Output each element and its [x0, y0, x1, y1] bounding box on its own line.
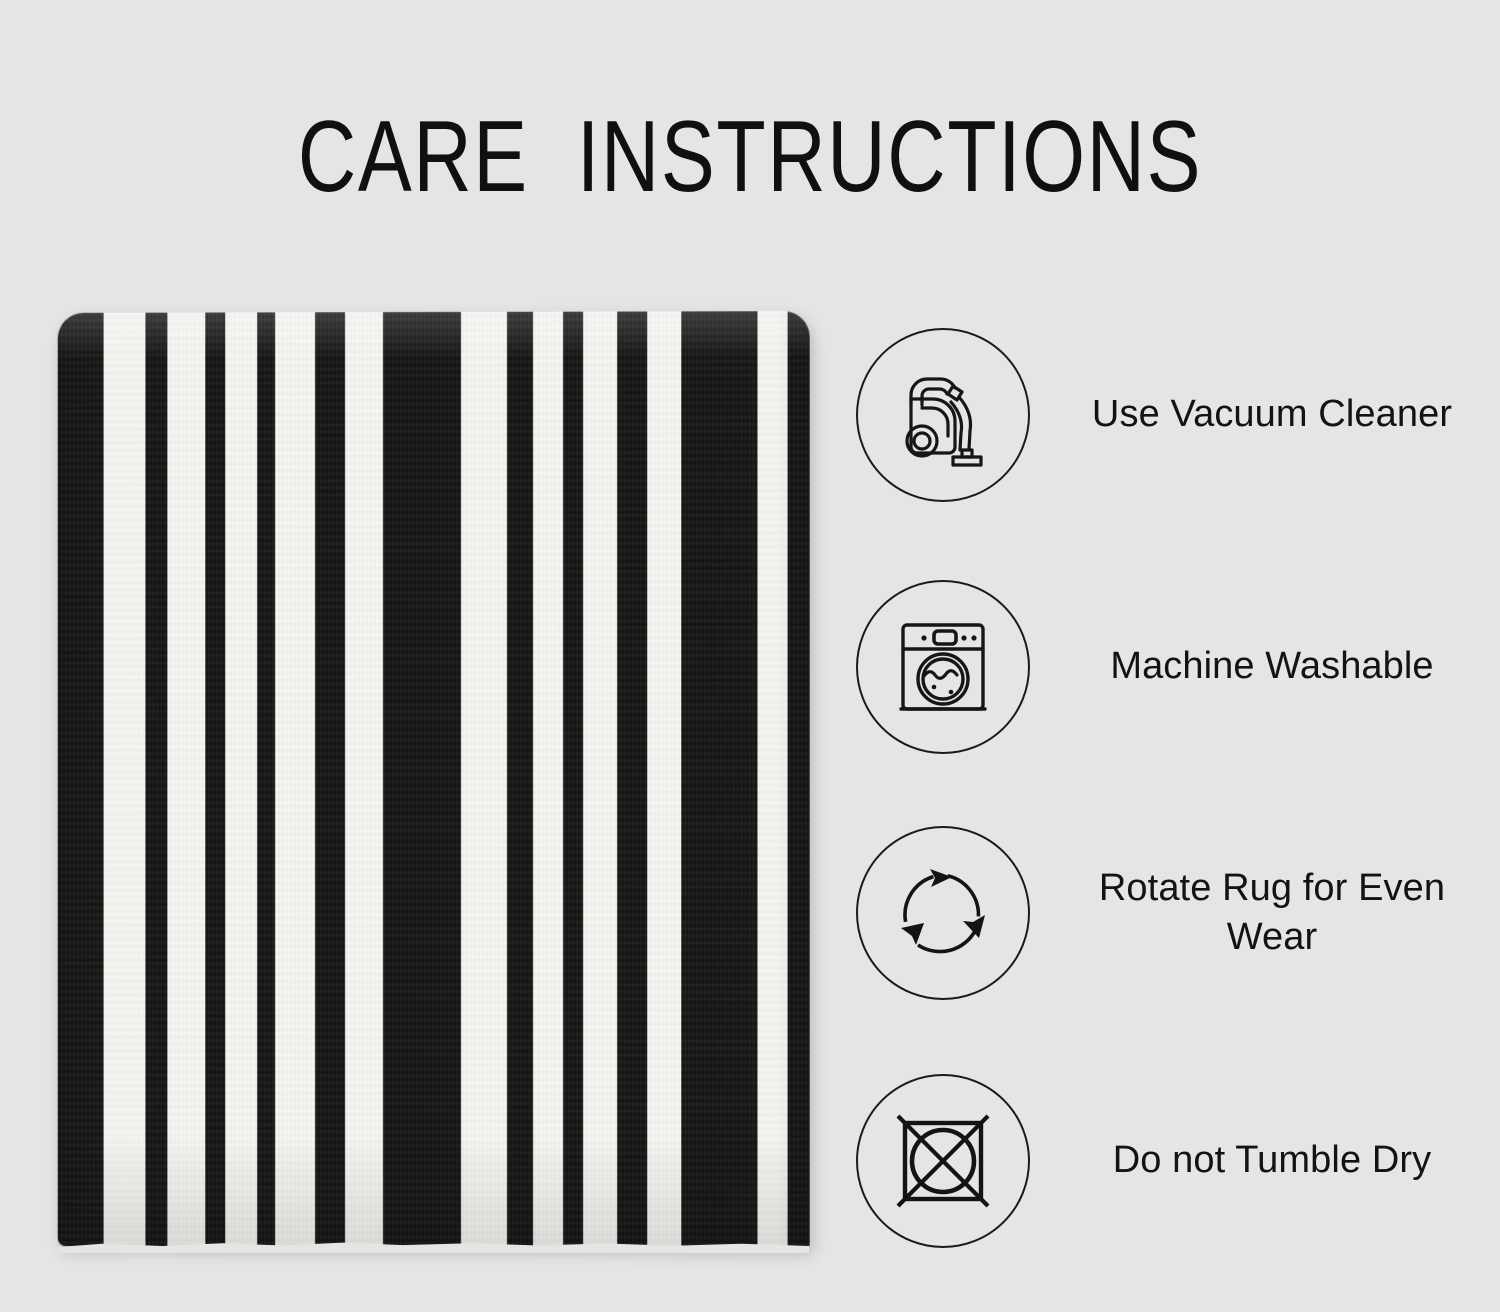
rug-stripe — [647, 311, 681, 1247]
instruction-label-machine-wash: Machine Washable — [1086, 642, 1476, 691]
rug-stripe — [104, 313, 146, 1247]
rug-stripe — [583, 312, 617, 1248]
icon-badge-rotate — [856, 826, 1030, 1000]
rug-stripe — [275, 312, 315, 1246]
instruction-row-vacuum: Use Vacuum Cleaner — [856, 320, 1476, 510]
rug-stripe — [563, 312, 583, 1248]
do-not-tumble-dry-icon — [887, 1105, 999, 1217]
icon-badge-no-tumble-dry — [856, 1074, 1030, 1248]
care-instructions-page: CARE INSTRUCTIONS — [0, 0, 1500, 1312]
rug-stripe — [383, 312, 461, 1247]
rug-stripe — [315, 312, 345, 1247]
icon-badge-vacuum — [856, 328, 1030, 502]
rug-stripe — [681, 311, 757, 1248]
instruction-label-rotate: Rotate Rug for Even Wear — [1086, 864, 1476, 963]
instruction-label-no-tumble-dry: Do not Tumble Dry — [1086, 1136, 1476, 1185]
rug-stripe — [788, 311, 810, 1248]
rug-stripe — [461, 312, 507, 1247]
washing-machine-icon — [889, 613, 997, 721]
rug-stripe — [758, 311, 788, 1248]
rug-stripe — [167, 313, 205, 1247]
rug-stripe — [507, 312, 533, 1247]
rotate-arrows-icon — [885, 855, 1001, 971]
instruction-row-rotate: Rotate Rug for Even Wear — [856, 818, 1476, 1008]
icon-badge-machine-wash — [856, 580, 1030, 754]
rug-stripe — [58, 313, 104, 1246]
vacuum-cleaner-icon — [889, 361, 997, 469]
rug-stripe — [533, 312, 563, 1248]
rug-stripe — [145, 313, 167, 1247]
rug-stripe — [225, 312, 257, 1246]
rug-stripe — [617, 311, 647, 1247]
instruction-row-machine-wash: Machine Washable — [856, 572, 1476, 762]
rug-stripe-pattern — [58, 311, 810, 1248]
product-image-rug — [57, 312, 809, 1247]
instruction-label-vacuum: Use Vacuum Cleaner — [1086, 390, 1476, 439]
page-title: CARE INSTRUCTIONS — [150, 104, 1350, 210]
instruction-row-no-tumble-dry: Do not Tumble Dry — [856, 1066, 1476, 1256]
rug-stripe — [205, 312, 225, 1246]
rug-stripe — [345, 312, 383, 1247]
rug-stripe — [257, 312, 275, 1246]
rug-body — [58, 311, 810, 1248]
